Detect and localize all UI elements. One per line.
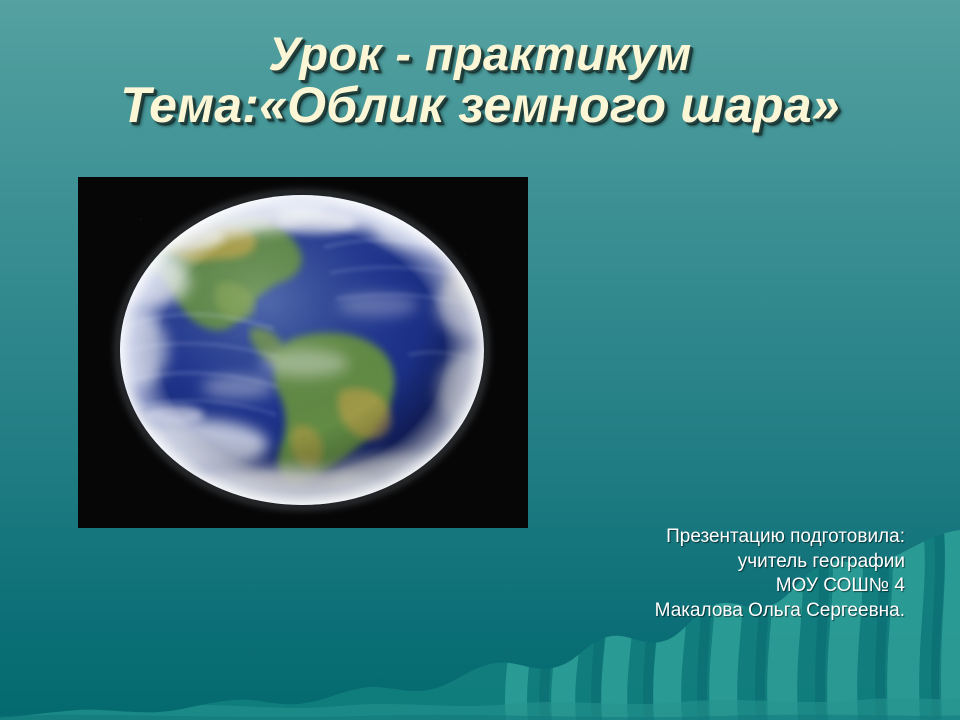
credit-line-prepared-by: Презентацию подготовила: (655, 525, 905, 550)
title-line-2: Тема:«Облик земного шара» (0, 79, 960, 131)
credit-line-school: МОУ СОШ№ 4 (655, 574, 905, 599)
author-credit: Презентацию подготовила: учитель географ… (655, 525, 905, 623)
earth-globe-image (78, 177, 528, 528)
presentation-slide: Урок - практикум Тема:«Облик земного шар… (0, 0, 960, 720)
earth-globe-illustration (78, 177, 528, 528)
credit-line-author-name: Макалова Ольга Сергеевна. (655, 599, 905, 624)
slide-title: Урок - практикум Тема:«Облик земного шар… (0, 30, 960, 131)
credit-line-role: учитель географии (655, 550, 905, 575)
title-line-1: Урок - практикум (0, 30, 960, 79)
